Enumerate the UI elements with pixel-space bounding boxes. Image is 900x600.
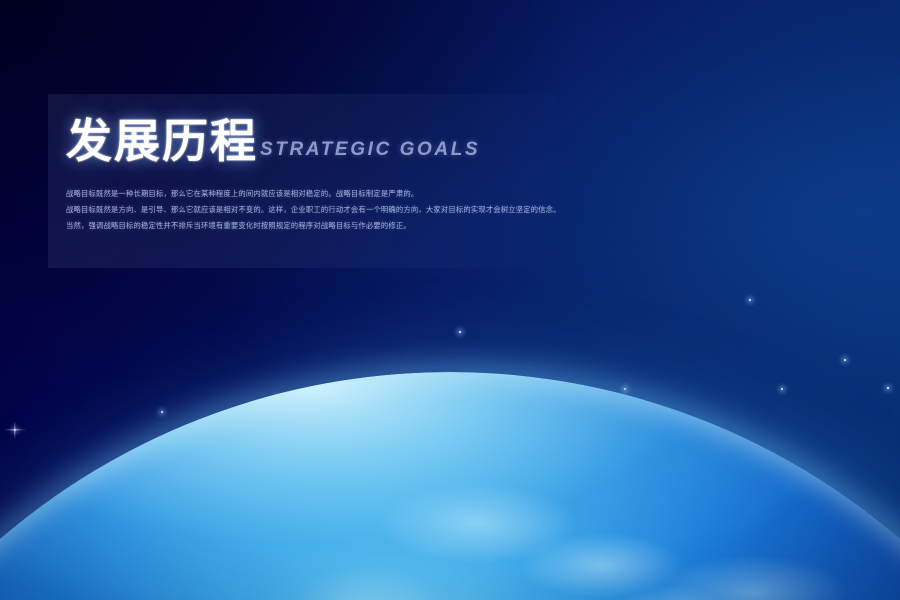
banner-body-copy: 战略目标既然是一种长期目标，那么它在某种程度上的间内就应该是相对稳定的。战略目标… (66, 186, 866, 234)
page-title: 发展历程 (66, 118, 258, 164)
body-line: 当然，强调战略目标的稳定性并不排斥当环境有重要变化时按照规定的程序对战略目标与作… (66, 218, 866, 234)
body-line: 战略目标既然是一种长期目标，那么它在某种程度上的间内就应该是相对稳定的。战略目标… (66, 186, 866, 202)
page-subtitle: STRATEGIC GOALS (260, 140, 480, 159)
banner-stage: 发展历程 STRATEGIC GOALS 战略目标既然是一种长期目标，那么它在某… (0, 0, 900, 600)
body-line: 战略目标既然是方向、是引导、那么它就应该是相对不变的。这样，企业职工的行动才会有… (66, 202, 866, 218)
scene-vignette (0, 0, 900, 600)
banner-heading: 发展历程 STRATEGIC GOALS (66, 118, 480, 164)
